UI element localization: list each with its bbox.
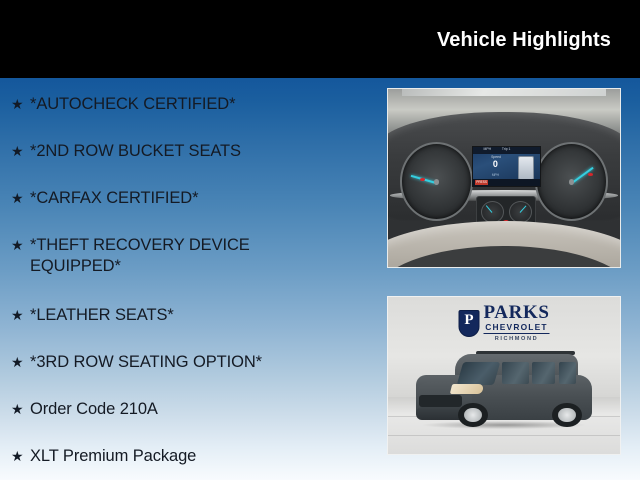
- front-wheel: [458, 403, 488, 428]
- dealer-logo-text: PARKS CHEVROLET RICHMOND: [484, 303, 550, 343]
- tachometer-gauge: [400, 142, 474, 221]
- vehicle-illustration: [416, 354, 592, 426]
- display-status-chip: PRESS: [475, 180, 488, 185]
- gauge-hub: [569, 179, 575, 185]
- dealer-brand: CHEVROLET: [484, 322, 550, 332]
- list-item: ★ *THEFT RECOVERY DEVICE EQUIPPED*: [11, 235, 250, 276]
- header-bar: Vehicle Highlights: [0, 0, 640, 78]
- temperature-needle: [520, 206, 527, 213]
- page-title: Vehicle Highlights: [437, 29, 611, 51]
- fuel-gauge: [481, 201, 504, 223]
- list-item: ★ *LEATHER SEATS*: [11, 305, 174, 326]
- temperature-gauge: [509, 201, 532, 223]
- dashboard-scene: MPH Trip 1 Speed 0 MPH PRESS: [388, 89, 620, 267]
- dealer-logo: P PARKS CHEVROLET RICHMOND: [459, 303, 550, 343]
- star-bullet-icon: ★: [11, 188, 30, 208]
- display-speed-unit: MPH: [475, 173, 515, 178]
- cluster-info-display: MPH Trip 1 Speed 0 MPH PRESS: [472, 146, 541, 187]
- star-bullet-icon: ★: [11, 94, 30, 114]
- list-item: ★ *CARFAX CERTIFIED*: [11, 188, 198, 209]
- front-grille: [419, 395, 461, 407]
- headlight: [450, 384, 484, 394]
- display-trip-label: Trip 1: [473, 147, 540, 152]
- dealer-city: RICHMOND: [484, 333, 550, 343]
- highlight-label: *LEATHER SEATS*: [30, 305, 174, 326]
- warning-light: [588, 173, 593, 176]
- star-bullet-icon: ★: [11, 352, 30, 372]
- list-item: ★ XLT Premium Package: [11, 446, 196, 467]
- dashboard-photo[interactable]: MPH Trip 1 Speed 0 MPH PRESS: [387, 88, 621, 268]
- list-item: ★ Order Code 210A: [11, 399, 158, 420]
- door-ajar-graphic: [518, 156, 535, 181]
- star-bullet-icon: ★: [11, 399, 30, 419]
- highlight-label: *AUTOCHECK CERTIFIED*: [30, 94, 235, 115]
- star-bullet-icon: ★: [11, 446, 30, 466]
- star-bullet-icon: ★: [11, 305, 30, 325]
- list-item: ★ *AUTOCHECK CERTIFIED*: [11, 94, 235, 115]
- side-window: [502, 362, 528, 384]
- highlight-label: *CARFAX CERTIFIED*: [30, 188, 198, 209]
- vehicle-scene: P PARKS CHEVROLET RICHMOND: [388, 297, 620, 454]
- windshield: [457, 362, 501, 385]
- vehicle-highlights-slide: Vehicle Highlights ★ *AUTOCHECK CERTIFIE…: [0, 0, 640, 480]
- side-window: [559, 362, 577, 384]
- highlight-label: *3RD ROW SEATING OPTION*: [30, 352, 262, 373]
- star-bullet-icon: ★: [11, 141, 30, 161]
- display-header-bar: MPH Trip 1: [473, 147, 540, 154]
- display-speed-value: 0: [475, 159, 515, 170]
- windshield-glare: [402, 89, 606, 96]
- highlight-label: XLT Premium Package: [30, 446, 196, 467]
- highlight-label: Order Code 210A: [30, 399, 158, 420]
- highlight-label: *2ND ROW BUCKET SEATS: [30, 141, 241, 162]
- shield-icon: P: [459, 310, 480, 337]
- fuel-needle: [486, 205, 492, 212]
- side-window: [532, 362, 555, 384]
- highlight-label: *THEFT RECOVERY DEVICE EQUIPPED*: [30, 235, 250, 276]
- list-item: ★ *3RD ROW SEATING OPTION*: [11, 352, 262, 373]
- vehicle-highlights-list: ★ *AUTOCHECK CERTIFIED* ★ *2ND ROW BUCKE…: [0, 78, 360, 480]
- speedometer-gauge: [535, 142, 609, 221]
- logo-monogram: P: [460, 312, 479, 329]
- vehicle-photo[interactable]: P PARKS CHEVROLET RICHMOND: [387, 296, 621, 455]
- star-bullet-icon: ★: [11, 235, 30, 255]
- gauge-hub: [434, 179, 440, 185]
- list-item: ★ *2ND ROW BUCKET SEATS: [11, 141, 241, 162]
- dealer-name: PARKS: [484, 303, 550, 322]
- rear-wheel: [552, 403, 582, 428]
